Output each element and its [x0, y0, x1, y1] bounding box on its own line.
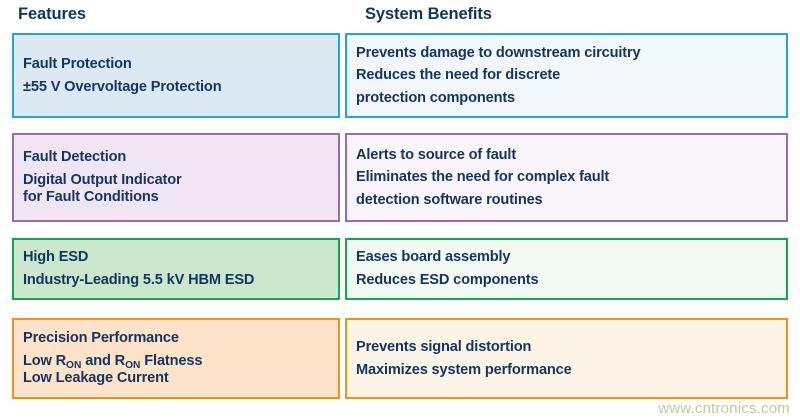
benefit-line: Prevents damage to downstream circuitry [347, 46, 786, 61]
column-header-features: Features [18, 5, 86, 24]
benefit-line: Reduces the need for discrete [347, 68, 786, 83]
benefit-cell: Prevents damage to downstream circuitryR… [345, 33, 788, 118]
benefit-line: protection components [347, 91, 786, 106]
benefit-line: Alerts to source of fault [347, 148, 786, 163]
table-row: Fault DetectionDigital Output Indicatorf… [0, 133, 800, 222]
feature-cell: Fault DetectionDigital Output Indicatorf… [12, 133, 340, 222]
feature-cell: Precision PerformanceLow RON and RON Fla… [12, 318, 340, 399]
feature-line: Fault Detection [14, 150, 338, 165]
benefit-line: Maximizes system performance [347, 363, 786, 378]
feature-line: Fault Protection [14, 57, 338, 72]
table-row: Fault Protection±55 V Overvoltage Protec… [0, 33, 800, 118]
benefit-line: Prevents signal distortion [347, 340, 786, 355]
feature-cell: High ESDIndustry-Leading 5.5 kV HBM ESD [12, 238, 340, 300]
benefit-line: Reduces ESD components [347, 273, 786, 288]
table-row: Precision PerformanceLow RON and RON Fla… [0, 318, 800, 399]
benefit-line: Eliminates the need for complex fault [347, 170, 786, 185]
feature-line: High ESD [14, 250, 338, 265]
benefit-cell: Prevents signal distortionMaximizes syst… [345, 318, 788, 399]
benefit-cell: Eases board assemblyReduces ESD componen… [345, 238, 788, 300]
feature-line: Digital Output Indicator [14, 173, 338, 188]
feature-line: Industry-Leading 5.5 kV HBM ESD [14, 273, 338, 288]
table-header: Features System Benefits [0, 0, 800, 33]
benefit-line: Eases board assembly [347, 250, 786, 265]
feature-line: ±55 V Overvoltage Protection [14, 80, 338, 95]
feature-line: Low RON and RON Flatness [14, 354, 338, 369]
column-header-system-benefits: System Benefits [365, 5, 492, 24]
feature-cell: Fault Protection±55 V Overvoltage Protec… [12, 33, 340, 118]
benefit-cell: Alerts to source of faultEliminates the … [345, 133, 788, 222]
feature-line: for Fault Conditions [14, 190, 338, 205]
watermark: www.cntronics.com [658, 400, 790, 417]
feature-benefit-table: Features System Benefits Fault Protectio… [0, 0, 800, 419]
feature-line: Precision Performance [14, 331, 338, 346]
feature-line: Low Leakage Current [14, 371, 338, 386]
benefit-line: detection software routines [347, 193, 786, 208]
table-row: High ESDIndustry-Leading 5.5 kV HBM ESDE… [0, 238, 800, 300]
